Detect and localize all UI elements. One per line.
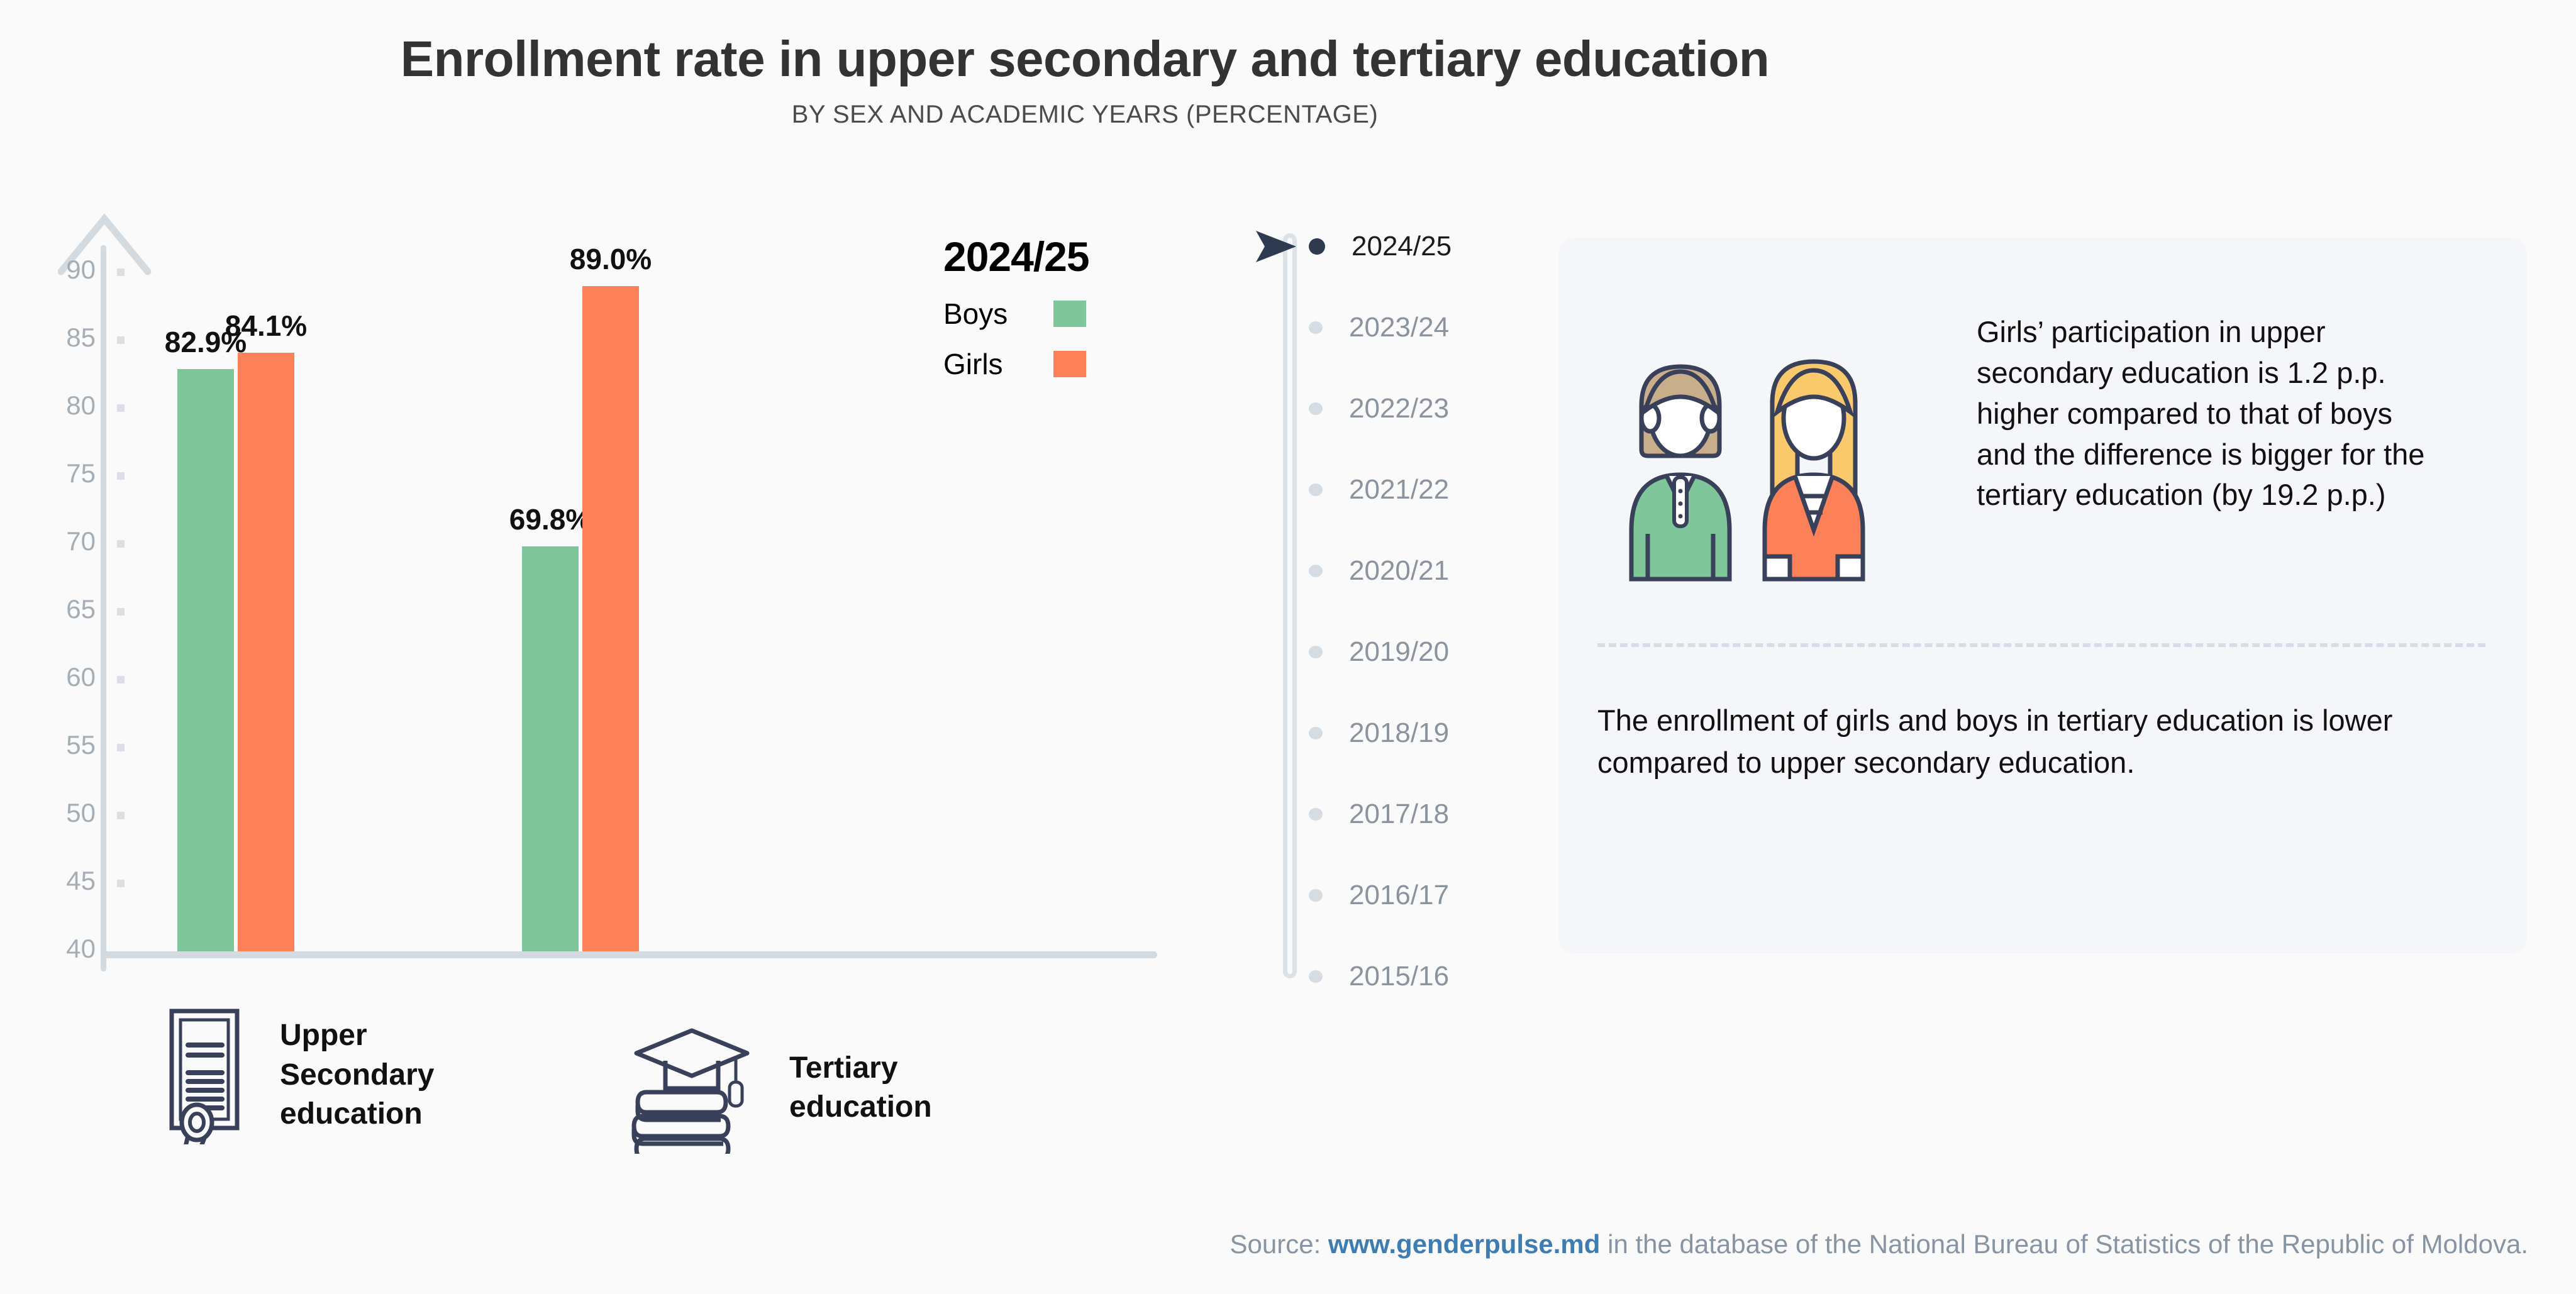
insight-highlight-text: Girls’ participation in upper secondary … [1977, 312, 2442, 516]
timeline-rail [1283, 233, 1297, 978]
timeline-year-label: 2021/22 [1349, 474, 1449, 506]
bar-value-label: 89.0% [548, 242, 674, 276]
legend-swatch-boys [1053, 301, 1086, 327]
category-label-tertiary: Tertiary education [789, 1049, 978, 1127]
insight-note-text: The enrollment of girls and boys in tert… [1597, 700, 2490, 783]
bar[interactable] [177, 369, 234, 951]
page-title: Enrollment rate in upper secondary and t… [0, 30, 2170, 88]
timeline-dot-icon [1309, 889, 1323, 902]
timeline-dot-icon [1309, 808, 1323, 821]
timeline-dot-icon [1309, 402, 1323, 415]
timeline-year-2018-19[interactable]: 2018/19 [1309, 717, 1449, 749]
y-axis-tick-label: 50 [0, 798, 96, 828]
graduation-books-icon [629, 1022, 755, 1154]
timeline-year-2019-20[interactable]: 2019/20 [1309, 636, 1449, 668]
timeline-year-2024-25[interactable]: 2024/25 [1309, 231, 1452, 262]
panel-divider [1597, 643, 2485, 647]
timeline-year-2017-18[interactable]: 2017/18 [1309, 799, 1449, 830]
bar-value-label: 84.1% [203, 309, 329, 343]
source-line: Source: www.genderpulse.md in the databa… [0, 1229, 2528, 1259]
y-axis-tick-label: 45 [0, 866, 96, 896]
timeline-dot-icon [1309, 321, 1323, 334]
y-axis-tick-label: 75 [0, 458, 96, 489]
category-upper-secondary: Upper Secondary education [167, 1006, 481, 1144]
legend-label-boys: Boys [943, 297, 1053, 331]
timeline-year-label: 2022/23 [1349, 393, 1449, 424]
timeline-year-label: 2018/19 [1349, 717, 1449, 749]
category-label-upper-secondary: Upper Secondary education [280, 1016, 481, 1134]
timeline-year-2020-21[interactable]: 2020/21 [1309, 555, 1449, 587]
timeline-dot-icon [1309, 565, 1323, 577]
timeline-year-label: 2024/25 [1352, 231, 1452, 262]
legend-item-girls[interactable]: Girls [943, 347, 1182, 381]
timeline-year-2022-23[interactable]: 2022/23 [1309, 393, 1449, 424]
source-link[interactable]: www.genderpulse.md [1328, 1229, 1601, 1259]
y-axis-tick-label: 65 [0, 594, 96, 624]
page-subtitle: BY SEX AND ACADEMIC YEARS (PERCENTAGE) [0, 101, 2170, 129]
y-axis-tick-label: 60 [0, 662, 96, 692]
legend-swatch-girls [1053, 351, 1086, 377]
timeline-year-label: 2020/21 [1349, 555, 1449, 587]
timeline-year-2023-24[interactable]: 2023/24 [1309, 312, 1449, 343]
x-axis-line [101, 951, 1157, 958]
y-axis-tick-label: 55 [0, 730, 96, 760]
timeline-year-2021-22[interactable]: 2021/22 [1309, 474, 1449, 506]
y-axis-tick-label: 80 [0, 390, 96, 421]
chart-legend: 2024/25 Boys Girls [943, 233, 1182, 381]
category-tertiary: Tertiary education [629, 1022, 978, 1154]
certificate-icon [167, 1006, 242, 1144]
legend-label-girls: Girls [943, 347, 1053, 381]
legend-selected-year: 2024/25 [943, 233, 1182, 280]
insight-panel: Girls’ participation in upper secondary … [1558, 238, 2527, 953]
infographic-page: Enrollment rate in upper secondary and t… [0, 0, 2576, 1294]
bar[interactable] [238, 353, 294, 951]
year-timeline[interactable]: 2024/252023/242022/232021/222020/212019/… [1255, 223, 1531, 987]
timeline-year-label: 2023/24 [1349, 312, 1449, 343]
bar[interactable] [582, 286, 639, 951]
timeline-year-2015-16[interactable]: 2015/16 [1309, 961, 1449, 992]
timeline-dot-icon [1309, 646, 1323, 658]
timeline-pointer-icon [1255, 228, 1311, 265]
timeline-year-label: 2017/18 [1349, 799, 1449, 830]
source-prefix: Source: [1230, 1229, 1328, 1259]
y-axis-tick-label: 85 [0, 323, 96, 353]
timeline-dot-icon [1309, 970, 1323, 983]
timeline-year-2016-17[interactable]: 2016/17 [1309, 880, 1449, 911]
y-axis-tick-label: 40 [0, 934, 96, 964]
timeline-dot-icon [1309, 727, 1323, 739]
boy-girl-illustration-icon [1609, 323, 1961, 587]
timeline-year-label: 2019/20 [1349, 636, 1449, 668]
y-axis-tick-label: 70 [0, 526, 96, 556]
timeline-year-label: 2016/17 [1349, 880, 1449, 911]
timeline-dot-icon [1309, 484, 1323, 496]
timeline-dot-icon [1309, 238, 1325, 255]
timeline-year-label: 2015/16 [1349, 961, 1449, 992]
source-suffix: in the database of the National Bureau o… [1600, 1229, 2528, 1259]
y-axis-tick-label: 90 [0, 255, 96, 285]
legend-item-boys[interactable]: Boys [943, 297, 1182, 331]
bar[interactable] [522, 546, 579, 951]
